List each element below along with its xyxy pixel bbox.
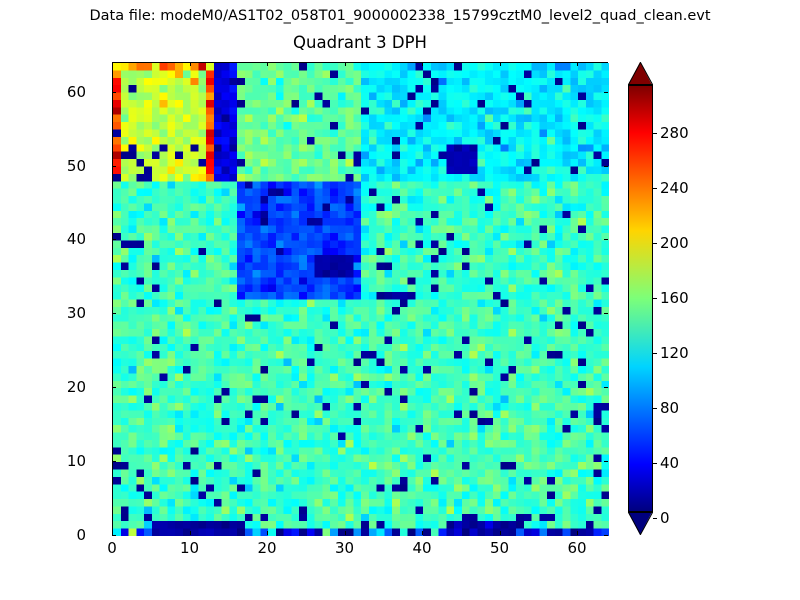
y-tick-mark — [112, 92, 116, 93]
colorbar-tick-mark — [653, 463, 657, 464]
x-tick-mark — [577, 531, 578, 535]
colorbar-tick-label: 280 — [660, 124, 689, 142]
y-tick-mark-right — [604, 166, 608, 167]
y-tick-label: 0 — [26, 526, 86, 544]
y-tick-label: 30 — [26, 304, 86, 322]
colorbar-tick-mark — [653, 133, 657, 134]
x-tick-label: 40 — [392, 539, 452, 557]
colorbar-tick-mark — [653, 298, 657, 299]
x-tick-mark-top — [422, 62, 423, 66]
colorbar-gradient — [629, 86, 652, 511]
y-tick-mark-right — [604, 92, 608, 93]
x-tick-label: 20 — [237, 539, 297, 557]
x-tick-label: 30 — [315, 539, 375, 557]
colorbar-tick-mark — [653, 408, 657, 409]
colorbar-body[interactable] — [628, 85, 653, 512]
y-tick-mark-right — [604, 239, 608, 240]
y-tick-mark-right — [604, 313, 608, 314]
x-tick-mark-top — [345, 62, 346, 66]
x-tick-mark-top — [112, 62, 113, 66]
x-tick-mark — [422, 531, 423, 535]
colorbar-tick-label: 200 — [660, 234, 689, 252]
colorbar-extend-max-outline — [628, 62, 653, 85]
colorbar-tick-label: 40 — [660, 454, 679, 472]
colorbar-tick-label: 80 — [660, 399, 679, 417]
colorbar-tick-label: 160 — [660, 289, 689, 307]
datafile-label: Data file: modeM0/AS1T02_058T01_90000023… — [0, 7, 800, 25]
x-tick-mark — [345, 531, 346, 535]
x-tick-mark-top — [500, 62, 501, 66]
colorbar-tick-label: 120 — [660, 344, 689, 362]
y-tick-mark — [112, 387, 116, 388]
y-tick-label: 60 — [26, 83, 86, 101]
y-tick-mark — [112, 313, 116, 314]
y-tick-mark-right — [604, 461, 608, 462]
y-tick-label: 40 — [26, 230, 86, 248]
x-tick-mark — [190, 531, 191, 535]
y-tick-mark — [112, 166, 116, 167]
heatmap-image[interactable] — [113, 63, 609, 536]
y-tick-mark — [112, 461, 116, 462]
figure-canvas: Data file: modeM0/AS1T02_058T01_90000023… — [0, 0, 800, 600]
x-tick-mark-top — [267, 62, 268, 66]
y-tick-mark — [112, 239, 116, 240]
y-tick-mark-right — [604, 535, 608, 536]
x-tick-label: 50 — [470, 539, 530, 557]
x-tick-mark-top — [577, 62, 578, 66]
y-tick-label: 50 — [26, 157, 86, 175]
x-tick-mark — [267, 531, 268, 535]
colorbar-tick-label: 0 — [660, 509, 670, 527]
y-tick-label: 20 — [26, 378, 86, 396]
y-tick-mark — [112, 535, 116, 536]
x-tick-label: 60 — [547, 539, 607, 557]
colorbar-tick-mark — [653, 188, 657, 189]
x-tick-label: 0 — [82, 539, 142, 557]
page-title: Quadrant 3 DPH — [112, 33, 608, 53]
x-tick-label: 10 — [160, 539, 220, 557]
x-tick-mark-top — [190, 62, 191, 66]
colorbar-tick-mark — [653, 518, 657, 519]
colorbar-extend-min-outline — [628, 512, 653, 535]
heatmap-axes[interactable] — [112, 62, 608, 535]
y-tick-mark-right — [604, 387, 608, 388]
y-tick-label: 10 — [26, 452, 86, 470]
colorbar-tick-mark — [653, 243, 657, 244]
x-tick-mark — [500, 531, 501, 535]
colorbar-tick-mark — [653, 353, 657, 354]
colorbar-tick-label: 240 — [660, 179, 689, 197]
colorbar[interactable] — [628, 62, 653, 535]
